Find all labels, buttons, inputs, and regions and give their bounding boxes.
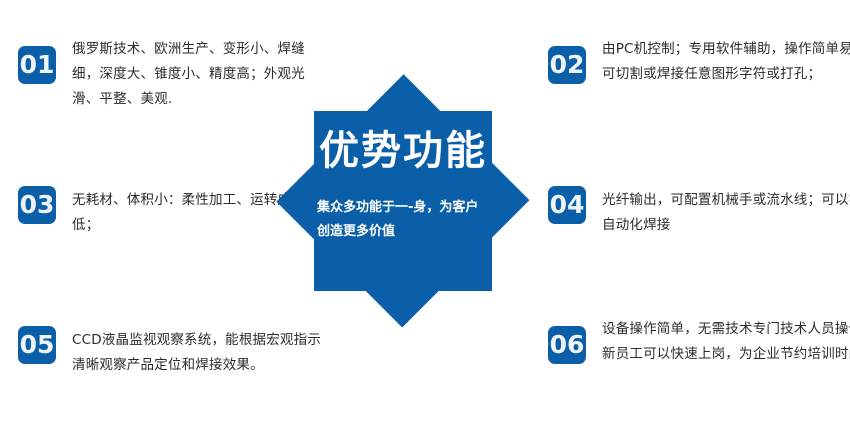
feature-number-badge-03: 03 <box>18 186 56 224</box>
advantages-infographic: 01 俄罗斯技术、欧洲生产、变形小、焊缝细，深度大、锥度小、精度高；外观光滑、平… <box>0 0 850 442</box>
feature-item-02: 02 由PC机控制；专用软件辅助，操作简单易学；可切割或焊接任意图形字符或打孔； <box>548 46 850 87</box>
feature-text-02: 由PC机控制；专用软件辅助，操作简单易学；可切割或焊接任意图形字符或打孔； <box>602 37 850 87</box>
feature-number-badge-05: 05 <box>18 326 56 364</box>
center-star-content: 优势功能 集众多功能于一-身，为客户创造更多价值 <box>277 74 529 328</box>
feature-number-badge-02: 02 <box>548 46 586 84</box>
center-subtitle: 集众多功能于一-身，为客户创造更多价值 <box>317 196 489 244</box>
feature-text-05: CCD液晶监视观察系统，能根据宏观指示清晰观察产品定位和焊接效果。 <box>72 328 322 378</box>
center-star-badge: 优势功能 集众多功能于一-身，为客户创造更多价值 <box>277 74 529 328</box>
feature-number-badge-01: 01 <box>18 46 56 84</box>
feature-number-badge-04: 04 <box>548 186 586 224</box>
feature-item-06: 06 设备操作简单，无需技术专门技术人员操作，新员工可以快速上岗，为企业节约培训… <box>548 326 850 367</box>
feature-item-04: 04 光纤输出，可配置机械手或流水线；可以实现自动化焊接 <box>548 186 850 238</box>
feature-item-05: 05 CCD液晶监视观察系统，能根据宏观指示清晰观察产品定位和焊接效果。 <box>18 326 322 378</box>
feature-number-badge-06: 06 <box>548 326 586 364</box>
center-title: 优势功能 <box>319 130 487 172</box>
feature-text-04: 光纤输出，可配置机械手或流水线；可以实现自动化焊接 <box>602 188 850 238</box>
feature-text-06: 设备操作简单，无需技术专门技术人员操作，新员工可以快速上岗，为企业节约培训时间； <box>602 317 850 367</box>
